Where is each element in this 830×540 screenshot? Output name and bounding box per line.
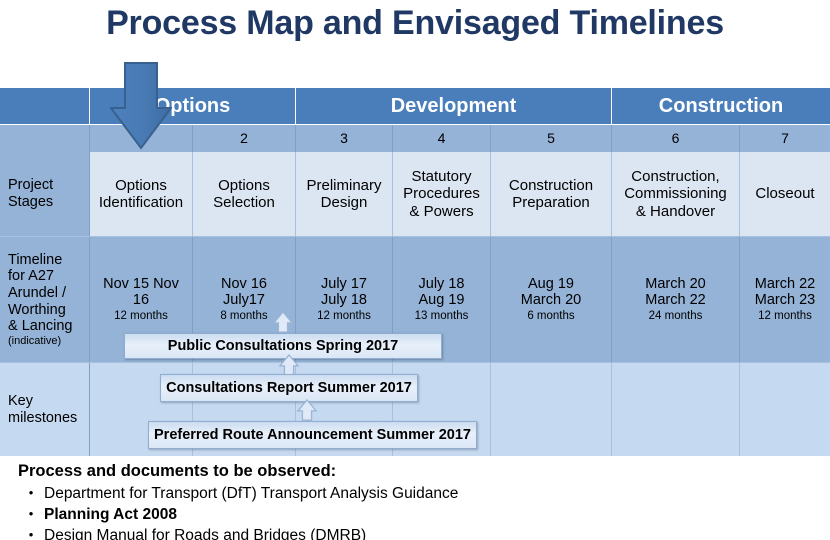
row-label-text: Project Stages bbox=[8, 177, 53, 210]
stage-cell-3: Preliminary Design bbox=[296, 152, 393, 236]
timeline-cell-5: Aug 19 March 20 6 months bbox=[491, 237, 612, 362]
stage-cell-6: Construction, Commissioning & Handover bbox=[612, 152, 740, 236]
stage-name: Statutory Procedures & Powers bbox=[403, 168, 480, 220]
bullet-icon: • bbox=[18, 526, 44, 540]
up-arrow-icon-3 bbox=[296, 399, 318, 421]
phase-header-development: Development bbox=[296, 88, 612, 124]
timeline-start: July 18 bbox=[419, 276, 465, 293]
note-text: Design Manual for Roads and Bridges (DMR… bbox=[44, 526, 366, 540]
timeline-start: Nov 15 Nov bbox=[103, 276, 179, 293]
stage-cell-2: Options Selection bbox=[193, 152, 296, 236]
milestone-callout-3[interactable]: Preferred Route Announcement Summer 2017 bbox=[148, 421, 477, 449]
timeline-start: July 17 bbox=[321, 276, 367, 293]
milestone-label: Public Consultations Spring 2017 bbox=[168, 338, 398, 354]
row-label-project-stages: Project Stages bbox=[0, 152, 90, 236]
row-label-key-milestones: Key milestones bbox=[0, 363, 90, 456]
timeline-duration: 12 months bbox=[114, 310, 168, 323]
row-label-text: Key milestones bbox=[8, 393, 77, 426]
milestone-label: Consultations Report Summer 2017 bbox=[166, 380, 412, 396]
row-label-indicative: (indicative) bbox=[8, 335, 61, 348]
bullet-icon: • bbox=[18, 484, 44, 505]
stage-name: Closeout bbox=[755, 185, 814, 202]
key-cell-7 bbox=[740, 363, 830, 456]
stage-cell-1: Options Identification bbox=[90, 152, 193, 236]
timeline-end: March 22 bbox=[645, 292, 705, 309]
up-arrow-icon-2 bbox=[278, 354, 300, 376]
timeline-end: July17 bbox=[223, 292, 265, 309]
notes-heading: Process and documents to be observed: bbox=[18, 462, 818, 481]
stage-name: Preliminary Design bbox=[306, 177, 381, 212]
timeline-start: March 22 bbox=[755, 276, 815, 293]
stage-name: Construction, Commissioning & Handover bbox=[624, 168, 727, 220]
timeline-end: Aug 19 bbox=[419, 292, 465, 309]
row-label-text: Timeline for A27 Arundel / Worthing & La… bbox=[8, 252, 73, 335]
up-arrow-icon-1 bbox=[272, 311, 294, 333]
timeline-duration: 12 months bbox=[317, 310, 371, 323]
timeline-start: March 20 bbox=[645, 276, 705, 293]
row-label-timeline: Timeline for A27 Arundel / Worthing & La… bbox=[0, 237, 90, 362]
timeline-end: March 23 bbox=[755, 292, 815, 309]
note-item-3: • Design Manual for Roads and Bridges (D… bbox=[18, 526, 818, 540]
timeline-end: 16 bbox=[133, 292, 149, 309]
stage-name: Construction Preparation bbox=[509, 177, 593, 212]
stage-cell-5: Construction Preparation bbox=[491, 152, 612, 236]
stage-number-5: 5 bbox=[491, 125, 612, 152]
stage-cell-7: Closeout bbox=[740, 152, 830, 236]
slide-root: Process Map and Envisaged Timelines Opti… bbox=[0, 0, 830, 540]
phase-label: Development bbox=[391, 95, 517, 118]
stage-number-6: 6 bbox=[612, 125, 740, 152]
timeline-end: March 20 bbox=[521, 292, 581, 309]
stage-number-blank bbox=[0, 125, 90, 152]
timeline-start: Aug 19 bbox=[528, 276, 574, 293]
timeline-duration: 12 months bbox=[758, 310, 812, 323]
timeline-cell-7: March 22 March 23 12 months bbox=[740, 237, 830, 362]
stage-number-label: 6 bbox=[672, 130, 680, 146]
stage-number-label: 5 bbox=[547, 130, 555, 146]
page-title: Process Map and Envisaged Timelines bbox=[0, 4, 830, 43]
timeline-end: July 18 bbox=[321, 292, 367, 309]
stage-number-4: 4 bbox=[393, 125, 491, 152]
stage-number-label: 2 bbox=[240, 130, 248, 146]
stage-cell-4: Statutory Procedures & Powers bbox=[393, 152, 491, 236]
timeline-duration: 6 months bbox=[527, 310, 574, 323]
timeline-start: Nov 16 bbox=[221, 276, 267, 293]
stage-number-7: 7 bbox=[740, 125, 830, 152]
timeline-duration: 24 months bbox=[649, 310, 703, 323]
process-documents-notes: Process and documents to be observed: • … bbox=[18, 462, 818, 540]
milestone-callout-2[interactable]: Consultations Report Summer 2017 bbox=[160, 374, 418, 402]
note-text: Planning Act 2008 bbox=[44, 505, 177, 526]
key-cell-6 bbox=[612, 363, 740, 456]
phase-label: Construction bbox=[659, 95, 783, 118]
note-text: Department for Transport (DfT) Transport… bbox=[44, 484, 458, 505]
note-item-2: • Planning Act 2008 bbox=[18, 505, 818, 526]
stage-name: Options Identification bbox=[99, 177, 183, 212]
stage-number-3: 3 bbox=[296, 125, 393, 152]
timeline-cell-6: March 20 March 22 24 months bbox=[612, 237, 740, 362]
stage-name: Options Selection bbox=[213, 177, 275, 212]
down-arrow-icon bbox=[110, 62, 172, 150]
stage-number-label: 4 bbox=[438, 130, 446, 146]
key-cell-5 bbox=[491, 363, 612, 456]
note-item-1: • Department for Transport (DfT) Transpo… bbox=[18, 484, 818, 505]
stage-number-label: 3 bbox=[340, 130, 348, 146]
bullet-icon: • bbox=[18, 505, 44, 526]
phase-header-blank bbox=[0, 88, 90, 124]
stage-number-label: 7 bbox=[781, 130, 789, 146]
milestone-label: Preferred Route Announcement Summer 2017 bbox=[154, 427, 471, 443]
timeline-duration: 13 months bbox=[415, 310, 469, 323]
stage-number-2: 2 bbox=[193, 125, 296, 152]
phase-header-construction: Construction bbox=[612, 88, 830, 124]
timeline-duration: 8 months bbox=[220, 310, 267, 323]
